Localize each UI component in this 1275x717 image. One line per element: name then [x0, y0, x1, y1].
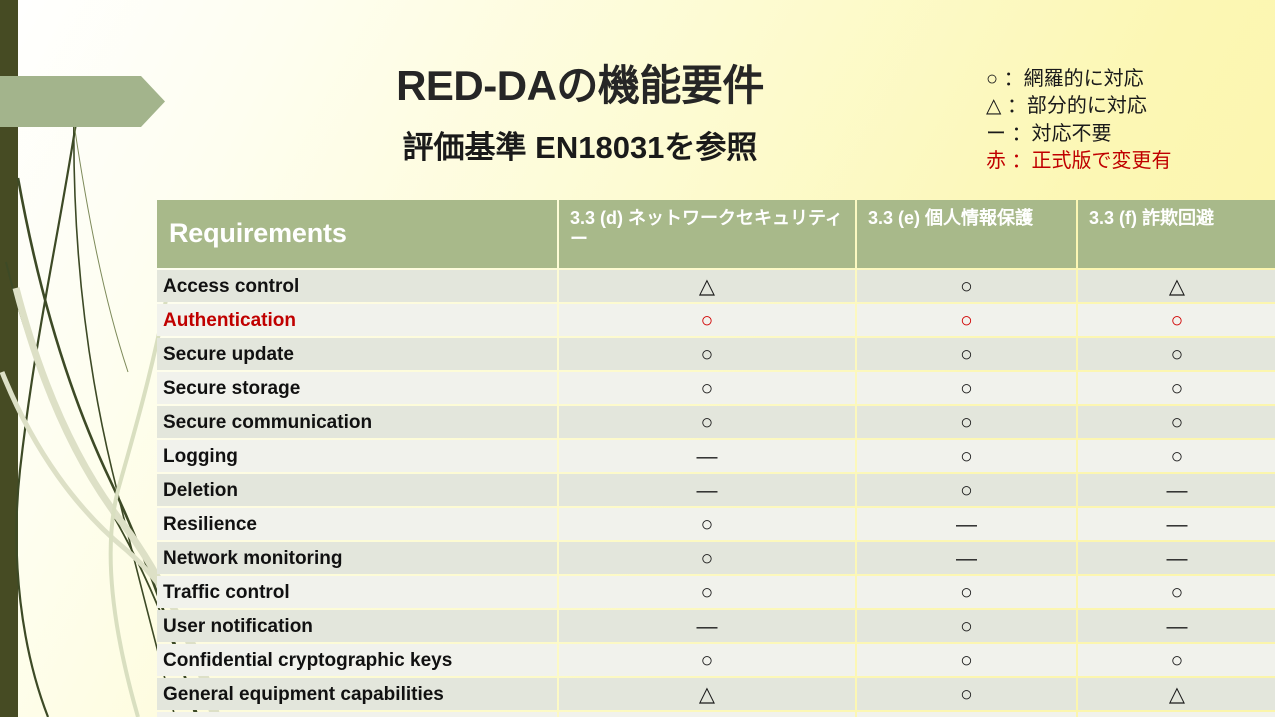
table-body: Access control△○△Authentication○○○Secure…: [157, 270, 1275, 717]
requirement-label: Logging: [157, 440, 557, 472]
status-cell-network-security: ○: [559, 542, 855, 574]
status-cell-network-security: ○: [559, 372, 855, 404]
table-row: Network monitoring○——: [157, 542, 1275, 574]
status-cell-network-security: ○: [559, 712, 855, 717]
requirement-label: Secure communication: [157, 406, 557, 438]
arrow-banner-icon: [0, 74, 166, 129]
page-subtitle: 評価基準 EN18031を参照: [200, 131, 960, 165]
legend-item-full: ○ ：網羅的に対応: [986, 66, 1172, 93]
table-row: User notification—○—: [157, 610, 1275, 642]
left-accent-bar: [0, 0, 18, 717]
requirement-label: User notification: [157, 610, 557, 642]
status-cell-privacy-protection: ○: [857, 440, 1076, 472]
table-row: Resilience○——: [157, 508, 1275, 540]
status-cell-privacy-protection: ○: [857, 406, 1076, 438]
status-cell-privacy-protection: —: [857, 542, 1076, 574]
table-row: Cryptography○○○: [157, 712, 1275, 717]
status-cell-fraud-avoidance: ○: [1078, 440, 1275, 472]
status-cell-fraud-avoidance: △: [1078, 678, 1275, 710]
table-row: Authentication○○○: [157, 304, 1275, 336]
table-row: Logging—○○: [157, 440, 1275, 472]
table-row: Confidential cryptographic keys○○○: [157, 644, 1275, 676]
status-cell-network-security: —: [559, 610, 855, 642]
requirement-label: General equipment capabilities: [157, 678, 557, 710]
requirement-label: Network monitoring: [157, 542, 557, 574]
legend: ○ ：網羅的に対応 △ ：部分的に対応 ー ：対応不要 赤 ：正式版で変更有: [986, 66, 1172, 176]
status-cell-network-security: ○: [559, 576, 855, 608]
status-cell-network-security: —: [559, 474, 855, 506]
status-cell-network-security: ○: [559, 644, 855, 676]
status-cell-fraud-avoidance: ○: [1078, 644, 1275, 676]
requirements-table-container: Requirements 3.3 (d) ネットワークセキュリティー 3.3 (…: [155, 198, 1268, 717]
table-row: Secure storage○○○: [157, 372, 1275, 404]
requirements-table: Requirements 3.3 (d) ネットワークセキュリティー 3.3 (…: [155, 198, 1275, 717]
status-cell-privacy-protection: ○: [857, 712, 1076, 717]
status-cell-fraud-avoidance: ○: [1078, 406, 1275, 438]
table-row: General equipment capabilities△○△: [157, 678, 1275, 710]
status-cell-network-security: △: [559, 678, 855, 710]
status-cell-privacy-protection: ○: [857, 372, 1076, 404]
status-cell-network-security: —: [559, 440, 855, 472]
requirement-label: Secure update: [157, 338, 557, 370]
status-cell-fraud-avoidance: —: [1078, 474, 1275, 506]
column-header-requirements: Requirements: [157, 200, 557, 268]
requirement-label: Authentication: [157, 304, 557, 336]
status-cell-fraud-avoidance: ○: [1078, 338, 1275, 370]
table-row: Deletion—○—: [157, 474, 1275, 506]
status-cell-network-security: ○: [559, 338, 855, 370]
column-header-network-security: 3.3 (d) ネットワークセキュリティー: [559, 200, 855, 268]
table-header-row: Requirements 3.3 (d) ネットワークセキュリティー 3.3 (…: [157, 200, 1275, 268]
status-cell-fraud-avoidance: ○: [1078, 712, 1275, 717]
status-cell-fraud-avoidance: ○: [1078, 304, 1275, 336]
status-cell-fraud-avoidance: —: [1078, 610, 1275, 642]
requirement-label: Secure storage: [157, 372, 557, 404]
status-cell-privacy-protection: —: [857, 508, 1076, 540]
status-cell-fraud-avoidance: ○: [1078, 372, 1275, 404]
status-cell-privacy-protection: ○: [857, 576, 1076, 608]
status-cell-network-security: ○: [559, 508, 855, 540]
requirement-label: Access control: [157, 270, 557, 302]
column-header-privacy-protection: 3.3 (e) 個人情報保護: [857, 200, 1076, 268]
status-cell-privacy-protection: ○: [857, 270, 1076, 302]
legend-item-partial: △ ：部分的に対応: [986, 93, 1172, 120]
status-cell-privacy-protection: ○: [857, 678, 1076, 710]
status-cell-fraud-avoidance: △: [1078, 270, 1275, 302]
column-header-fraud-avoidance: 3.3 (f) 詐欺回避: [1078, 200, 1275, 268]
requirement-label: Deletion: [157, 474, 557, 506]
legend-item-none: ー ：対応不要: [986, 121, 1172, 148]
legend-item-changed: 赤 ：正式版で変更有: [986, 148, 1172, 175]
requirement-label: Cryptography: [157, 712, 557, 717]
table-row: Secure communication○○○: [157, 406, 1275, 438]
status-cell-network-security: △: [559, 270, 855, 302]
status-cell-fraud-avoidance: ○: [1078, 576, 1275, 608]
status-cell-privacy-protection: ○: [857, 338, 1076, 370]
page-title: RED-DAの機能要件: [200, 64, 960, 108]
status-cell-privacy-protection: ○: [857, 304, 1076, 336]
requirement-label: Traffic control: [157, 576, 557, 608]
table-row: Access control△○△: [157, 270, 1275, 302]
status-cell-privacy-protection: ○: [857, 644, 1076, 676]
requirement-label: Confidential cryptographic keys: [157, 644, 557, 676]
status-cell-fraud-avoidance: —: [1078, 542, 1275, 574]
status-cell-privacy-protection: ○: [857, 474, 1076, 506]
table-header: Requirements 3.3 (d) ネットワークセキュリティー 3.3 (…: [157, 200, 1275, 268]
status-cell-fraud-avoidance: —: [1078, 508, 1275, 540]
status-cell-privacy-protection: ○: [857, 610, 1076, 642]
slide-canvas: RED-DAの機能要件 評価基準 EN18031を参照 ○ ：網羅的に対応 △ …: [0, 0, 1275, 717]
table-row: Secure update○○○: [157, 338, 1275, 370]
status-cell-network-security: ○: [559, 406, 855, 438]
status-cell-network-security: ○: [559, 304, 855, 336]
table-row: Traffic control○○○: [157, 576, 1275, 608]
requirement-label: Resilience: [157, 508, 557, 540]
